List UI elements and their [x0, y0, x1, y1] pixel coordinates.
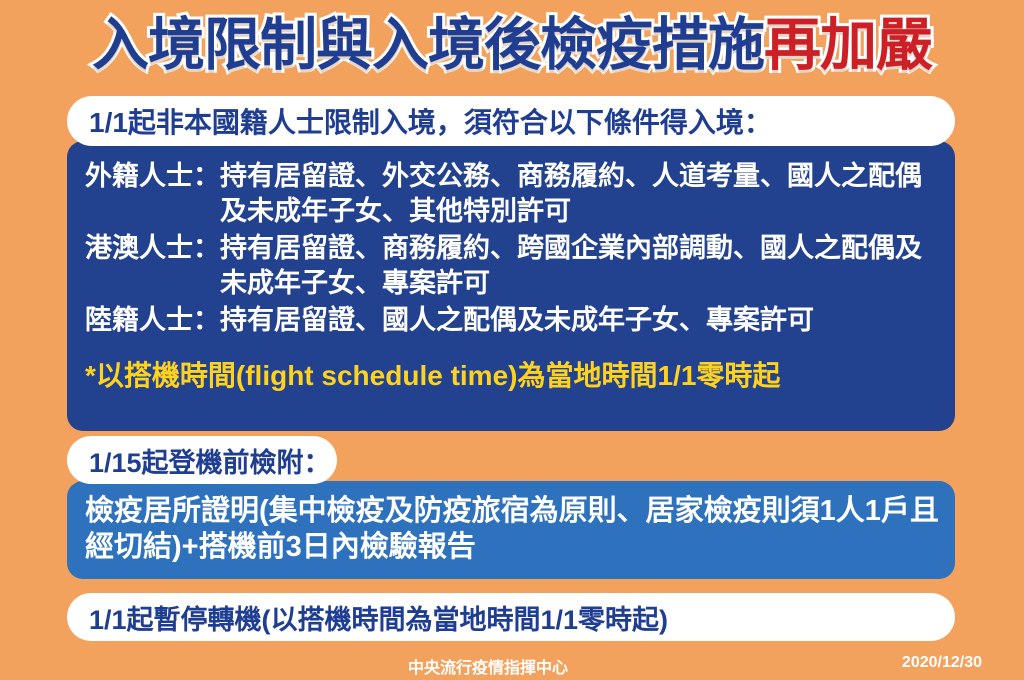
rule-label-hk-macau: 港澳人士：: [85, 231, 220, 266]
list-item: 陸籍人士： 持有居留證、國人之配偶及未成年子女、專案許可: [85, 303, 937, 338]
panel-preboarding-documents: 檢疫居所證明(集中檢疫及防疫旅宿為原則、居家檢疫則須1人1戶且經切結)+搭機前3…: [67, 481, 955, 579]
rule-text-hk-macau: 持有居留證、商務履約、跨國企業內部調動、國人之配偶及未成年子女、專案許可: [220, 231, 937, 301]
section-heading-transit-suspension: 1/1起暫停轉機(以搭機時間為當地時間1/1零時起): [67, 593, 955, 641]
list-item: 港澳人士： 持有居留證、商務履約、跨國企業內部調動、國人之配偶及未成年子女、專案…: [85, 231, 937, 301]
section-heading-entry-restriction-label: 1/1起非本國籍人士限制入境，須符合以下條件得入境：: [89, 101, 772, 141]
section-heading-preboarding-label: 1/15起登機前檢附：: [89, 441, 331, 480]
rule-text-foreign-nationals: 持有居留證、外交公務、商務履約、人道考量、國人之配偶及未成年子女、其他特別許可: [220, 159, 937, 229]
rule-label-mainland: 陸籍人士：: [85, 303, 220, 338]
section-heading-entry-restriction: 1/1起非本國籍人士限制入境，須符合以下條件得入境：: [67, 96, 955, 146]
footer: 中央流行疫情指揮中心 2020/12/30: [0, 646, 1024, 680]
section-heading-transit-suspension-label: 1/1起暫停轉機(以搭機時間為當地時間1/1零時起): [89, 598, 668, 637]
rule-label-foreign-nationals: 外籍人士：: [85, 159, 220, 194]
rule-text-mainland: 持有居留證、國人之配偶及未成年子女、專案許可: [220, 303, 937, 338]
panel-entry-conditions: 外籍人士： 持有居留證、外交公務、商務履約、人道考量、國人之配偶及未成年子女、其…: [67, 141, 955, 431]
footer-organization: 中央流行疫情指揮中心: [408, 654, 568, 678]
entry-condition-list: 外籍人士： 持有居留證、外交公務、商務履約、人道考量、國人之配偶及未成年子女、其…: [85, 159, 937, 340]
footer-date: 2020/12/30: [902, 654, 982, 672]
preboarding-documents-text: 檢疫居所證明(集中檢疫及防疫旅宿為原則、居家檢疫則須1人1戶且經切結)+搭機前3…: [85, 493, 941, 566]
section-heading-preboarding: 1/15起登機前檢附：: [67, 436, 337, 484]
page-title-main: 入境限制與入境後檢疫措施: [92, 17, 764, 74]
page-title: 入境限制與入境後檢疫措施再加嚴: [0, 6, 1024, 84]
entry-condition-note: *以搭機時間(flight schedule time)為當地時間1/1零時起: [85, 354, 945, 394]
page-title-emphasis: 再加嚴: [764, 17, 932, 74]
list-item: 外籍人士： 持有居留證、外交公務、商務履約、人道考量、國人之配偶及未成年子女、其…: [85, 159, 937, 229]
